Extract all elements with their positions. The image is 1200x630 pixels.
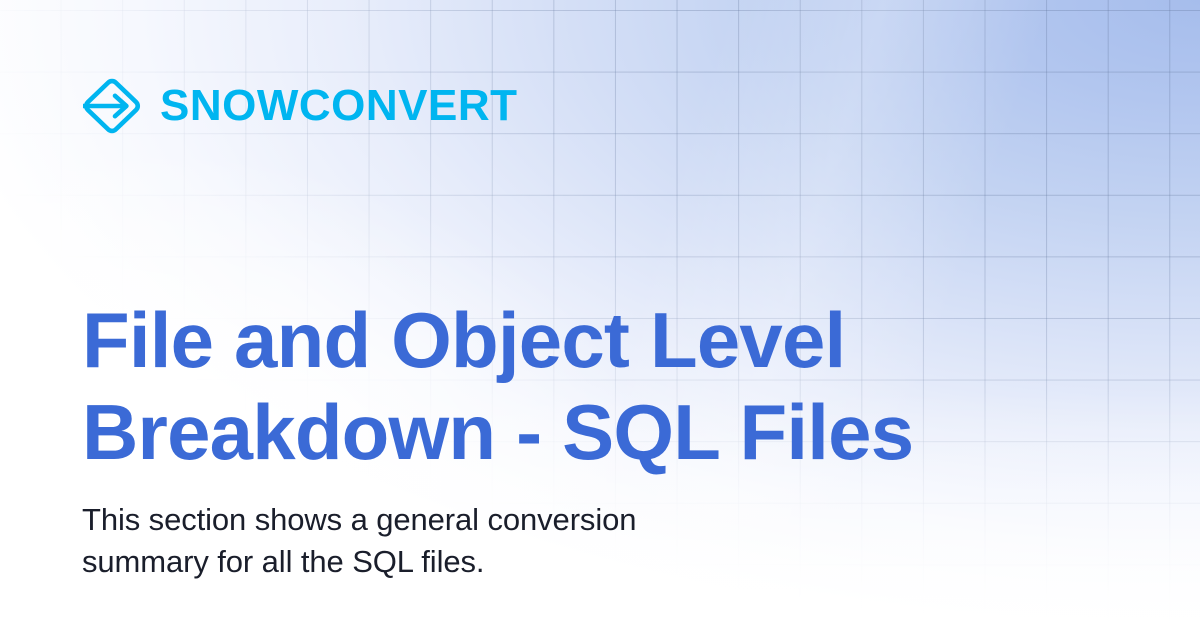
rhombus-arrow-icon (82, 74, 146, 138)
page-title: File and Object Level Breakdown - SQL Fi… (82, 295, 1122, 478)
page-subtitle-line-2: summary for all the SQL files. (82, 541, 802, 583)
page-title-line-1: File and Object Level (82, 295, 1122, 386)
snowconvert-logo: SNOWCONVERT (82, 74, 518, 138)
banner-content: SNOWCONVERT File and Object Level Breakd… (0, 0, 1200, 630)
page-subtitle: This section shows a general conversion … (82, 499, 802, 582)
hero-banner: SNOWCONVERT File and Object Level Breakd… (0, 0, 1200, 630)
page-title-line-2: Breakdown - SQL Files (82, 387, 1122, 478)
brand-wordmark: SNOWCONVERT (160, 84, 518, 128)
page-subtitle-line-1: This section shows a general conversion (82, 499, 802, 541)
